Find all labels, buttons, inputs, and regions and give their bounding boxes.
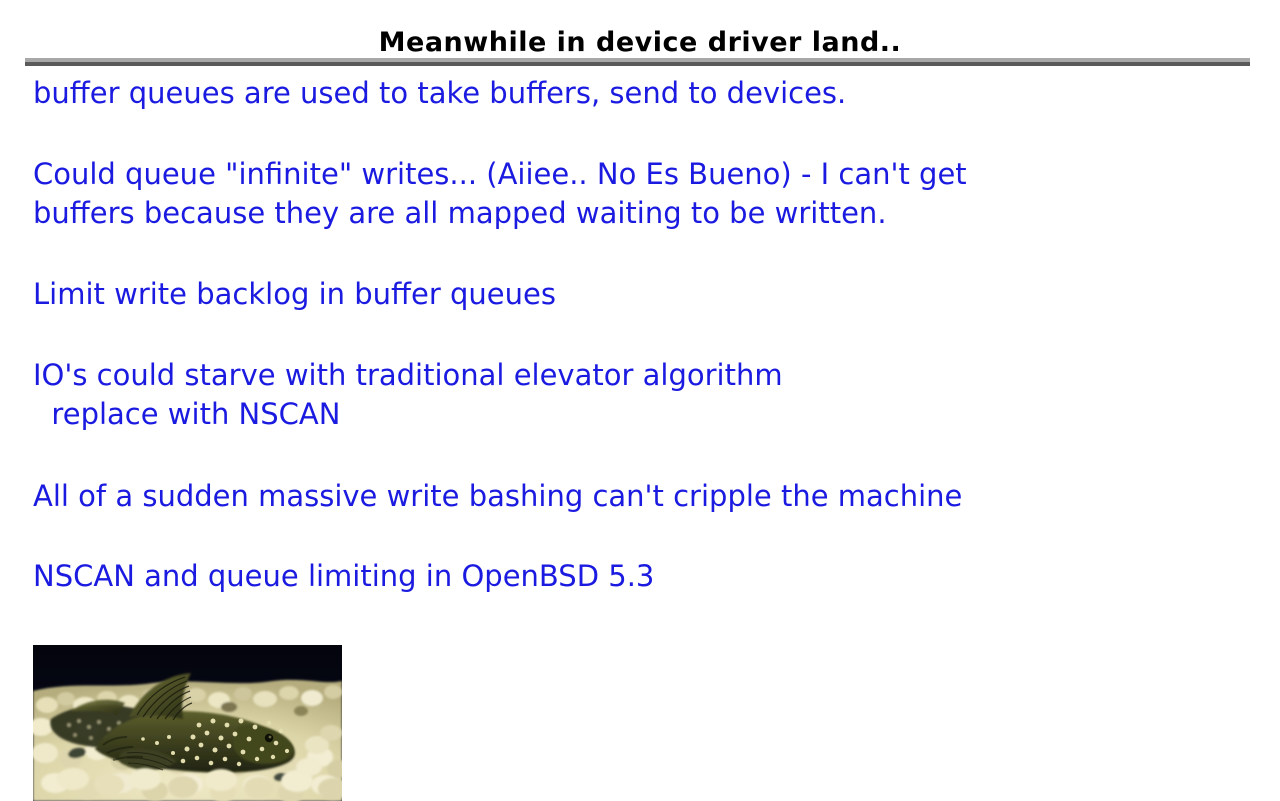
bullet-line: All of a sudden massive write bashing ca… xyxy=(33,477,1233,516)
bullet-write-bashing: All of a sudden massive write bashing ca… xyxy=(33,477,1233,516)
slide-body: buffer queues are used to take buffers, … xyxy=(33,74,1233,596)
bullet-openbsd-release: NSCAN and queue limiting in OpenBSD 5.3 xyxy=(33,557,1233,596)
bullet-line: Could queue "infinite" writes... (Aiiee.… xyxy=(33,155,1233,194)
bullet-line: buffer queues are used to take buffers, … xyxy=(33,74,1233,113)
bullet-limit-write-backlog: Limit write backlog in buffer queues xyxy=(33,275,1233,314)
bullet-buffer-queues: buffer queues are used to take buffers, … xyxy=(33,74,1233,113)
page-title: Meanwhile in device driver land.. xyxy=(0,27,1280,59)
bullet-io-starvation: IO's could starve with traditional eleva… xyxy=(33,356,1233,434)
bristlenose-pleco-on-gravel-photo xyxy=(33,645,342,801)
bullet-line: buffers because they are all mapped wait… xyxy=(33,194,1233,233)
bullet-line: NSCAN and queue limiting in OpenBSD 5.3 xyxy=(33,557,1233,596)
bullet-line: IO's could starve with traditional eleva… xyxy=(33,356,1233,395)
bullet-subline: replace with NSCAN xyxy=(33,395,1233,434)
bullet-line: Limit write backlog in buffer queues xyxy=(33,275,1233,314)
bullet-infinite-writes: Could queue "infinite" writes... (Aiiee.… xyxy=(33,155,1233,233)
title-divider xyxy=(25,58,1250,66)
divider-shadow xyxy=(25,62,1250,66)
